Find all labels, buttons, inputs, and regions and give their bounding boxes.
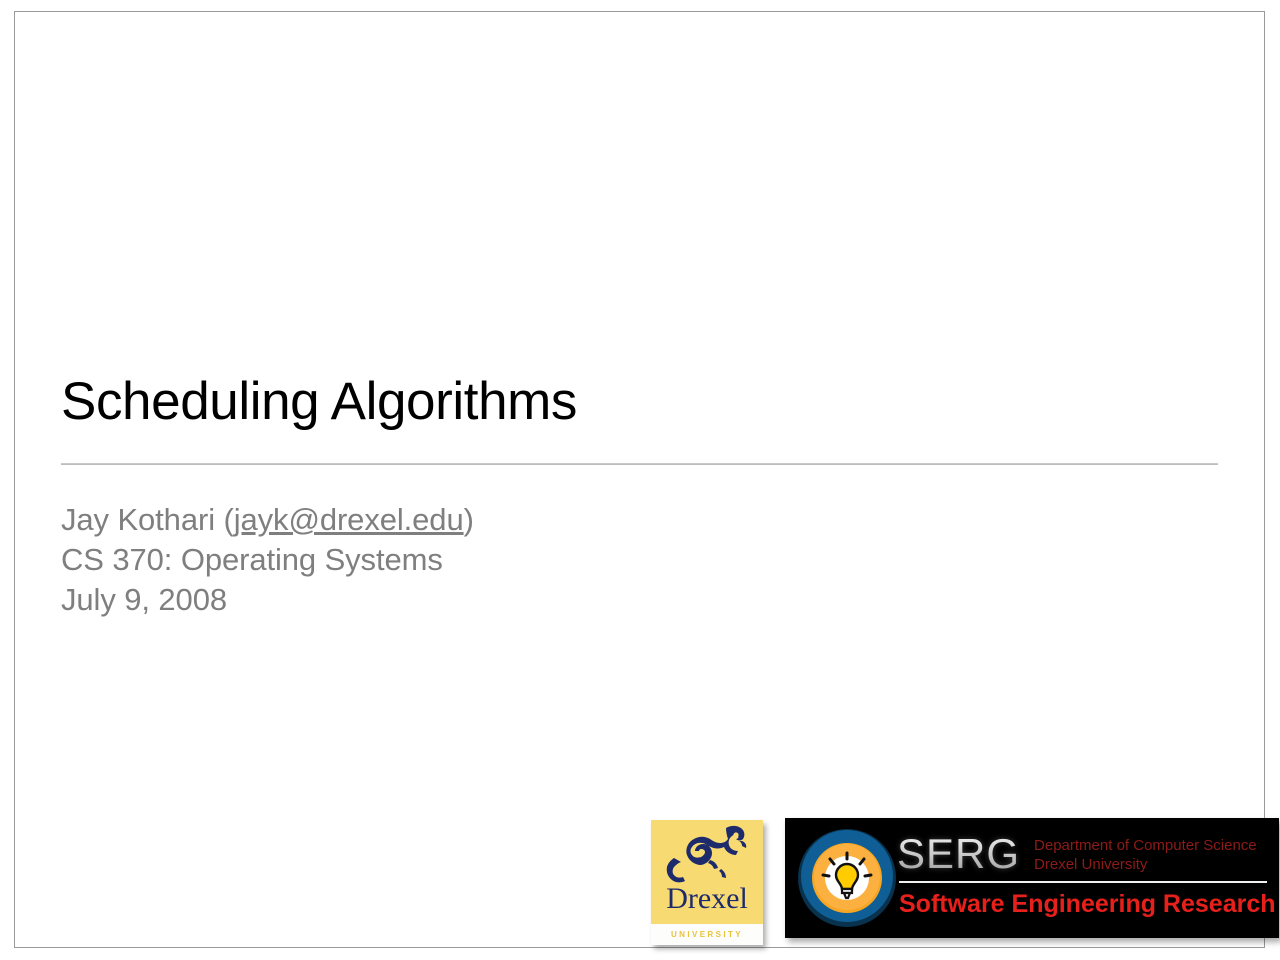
drexel-university-bar: UNIVERSITY bbox=[651, 924, 763, 945]
dragon-icon bbox=[664, 824, 750, 886]
serg-department-line-2: Drexel University bbox=[1034, 855, 1257, 874]
serg-divider bbox=[899, 881, 1267, 883]
presentation-slide: Scheduling Algorithms Jay Kothari (jayk@… bbox=[0, 0, 1280, 960]
slide-border bbox=[14, 11, 1265, 948]
lightbulb-icon bbox=[795, 826, 899, 930]
author-line: Jay Kothari (jayk@drexel.edu) bbox=[61, 500, 474, 540]
subtitle-block: Jay Kothari (jayk@drexel.edu) CS 370: Op… bbox=[61, 500, 474, 620]
serg-department-line-1: Department of Computer Science bbox=[1034, 836, 1257, 855]
drexel-wordmark: Drexel bbox=[651, 882, 763, 916]
author-name: Jay Kothari ( bbox=[61, 502, 234, 537]
serg-acronym: SERG bbox=[897, 832, 1020, 876]
serg-text-block: SERG Department of Computer Science Drex… bbox=[897, 818, 1279, 938]
serg-department: Department of Computer Science Drexel Un… bbox=[1034, 832, 1257, 874]
serg-logo: SERG Department of Computer Science Drex… bbox=[785, 818, 1279, 938]
course-line: CS 370: Operating Systems bbox=[61, 540, 474, 580]
author-paren-close: ) bbox=[464, 502, 474, 537]
page-title: Scheduling Algorithms bbox=[61, 372, 1219, 432]
author-email-link[interactable]: jayk@drexel.edu bbox=[234, 502, 464, 537]
drexel-university-label: UNIVERSITY bbox=[671, 930, 743, 939]
title-divider bbox=[61, 463, 1218, 465]
serg-tagline: Software Engineering Research Group bbox=[899, 889, 1279, 919]
title-block: Scheduling Algorithms bbox=[61, 372, 1219, 465]
drexel-logo: Drexel UNIVERSITY bbox=[651, 820, 763, 945]
date-line: July 9, 2008 bbox=[61, 580, 474, 620]
serg-header-row: SERG Department of Computer Science Drex… bbox=[897, 832, 1257, 876]
